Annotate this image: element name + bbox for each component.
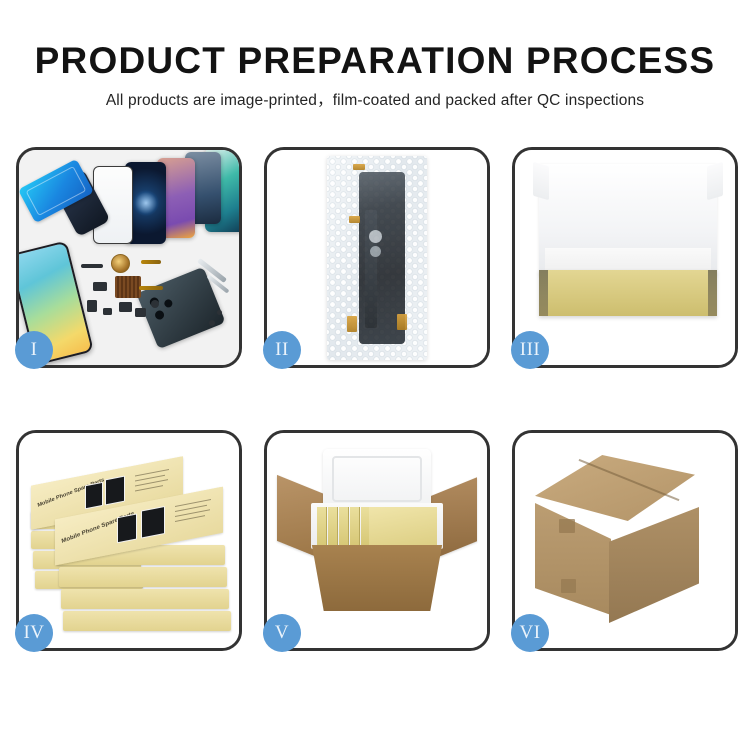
packed-box-2	[328, 507, 338, 545]
step-panel-2: II	[264, 147, 490, 368]
box-left-edge	[539, 270, 548, 316]
step-2-image	[267, 150, 487, 365]
box-front-face	[548, 270, 708, 316]
step-4-image: Mobile Phone Spare Parts Mobile Phone Sp…	[19, 433, 239, 648]
box-window-2b	[141, 506, 165, 539]
box-right-edge	[708, 270, 717, 316]
step-5-image	[267, 433, 487, 648]
logic-board-part	[115, 276, 141, 298]
bubble-wrap-bag	[327, 156, 427, 360]
step-badge-5: V	[263, 614, 301, 652]
small-screw-c	[217, 310, 222, 315]
small-chip-a	[93, 282, 107, 291]
step-badge-3: III	[511, 331, 549, 369]
packed-box-3	[339, 507, 349, 545]
part-circle-b	[370, 246, 381, 257]
tape-middle	[349, 216, 360, 223]
small-screw-a	[151, 300, 159, 308]
carton-front-panel	[303, 545, 451, 611]
box-window-1b	[105, 476, 125, 506]
small-chip-b	[87, 300, 97, 312]
stacked-box-r4	[63, 611, 231, 631]
small-chip-d	[119, 302, 132, 312]
step-6-image	[515, 433, 735, 648]
step-panel-5: V	[264, 430, 490, 651]
process-grid: I II	[16, 147, 738, 651]
stacked-box-r2	[59, 567, 227, 587]
tape-bottom-right	[397, 314, 407, 330]
step-badge-4: IV	[15, 614, 53, 652]
process-row-1: I II	[16, 147, 738, 368]
page-title: PRODUCT PREPARATION PROCESS	[0, 0, 750, 82]
process-row-2: Mobile Phone Spare Parts Mobile Phone Sp…	[16, 430, 738, 651]
step-badge-1: I	[15, 331, 53, 369]
packed-box-1	[317, 507, 327, 545]
box-window-2a	[117, 513, 137, 543]
box-window-1a	[85, 482, 103, 509]
phone-parts-scene	[19, 150, 239, 365]
flex-cable-part-a	[141, 260, 161, 264]
carton-top-face	[535, 455, 695, 521]
step-panel-3: III	[512, 147, 738, 368]
packed-box-4	[350, 507, 360, 545]
step-badge-2: II	[263, 331, 301, 369]
step-panel-1: I	[16, 147, 242, 368]
flex-cable-part-b	[139, 286, 163, 290]
packed-box-slab	[369, 507, 437, 545]
speaker-coil-part	[111, 254, 130, 273]
yellow-box-stack: Mobile Phone Spare Parts Mobile Phone Sp…	[31, 453, 231, 633]
yellow-inner-box	[539, 270, 717, 316]
part-circle-a	[369, 230, 382, 243]
carton-tab-lower	[561, 579, 576, 593]
small-screw-b	[209, 320, 215, 326]
part-dark-strip	[365, 210, 377, 328]
small-chip-c	[103, 308, 112, 315]
tape-bottom-left	[347, 316, 357, 332]
carton-right-face	[609, 507, 699, 623]
small-chip-e	[135, 308, 146, 317]
tape-top	[353, 164, 365, 170]
bar-part	[81, 264, 103, 268]
packed-yellow-boxes	[317, 507, 437, 545]
carton-tab-upper	[559, 519, 575, 533]
step-1-image	[19, 150, 239, 365]
product-preparation-infographic: PRODUCT PREPARATION PROCESS All products…	[0, 0, 750, 750]
foam-lid	[323, 449, 431, 511]
step-badge-6: VI	[511, 614, 549, 652]
step-panel-6: VI	[512, 430, 738, 651]
page-subtitle: All products are image-printed，film-coat…	[0, 82, 750, 111]
step-3-image	[515, 150, 735, 365]
step-panel-4: Mobile Phone Spare Parts Mobile Phone Sp…	[16, 430, 242, 651]
header: PRODUCT PREPARATION PROCESS All products…	[0, 0, 750, 111]
stacked-box-r3	[61, 589, 229, 609]
